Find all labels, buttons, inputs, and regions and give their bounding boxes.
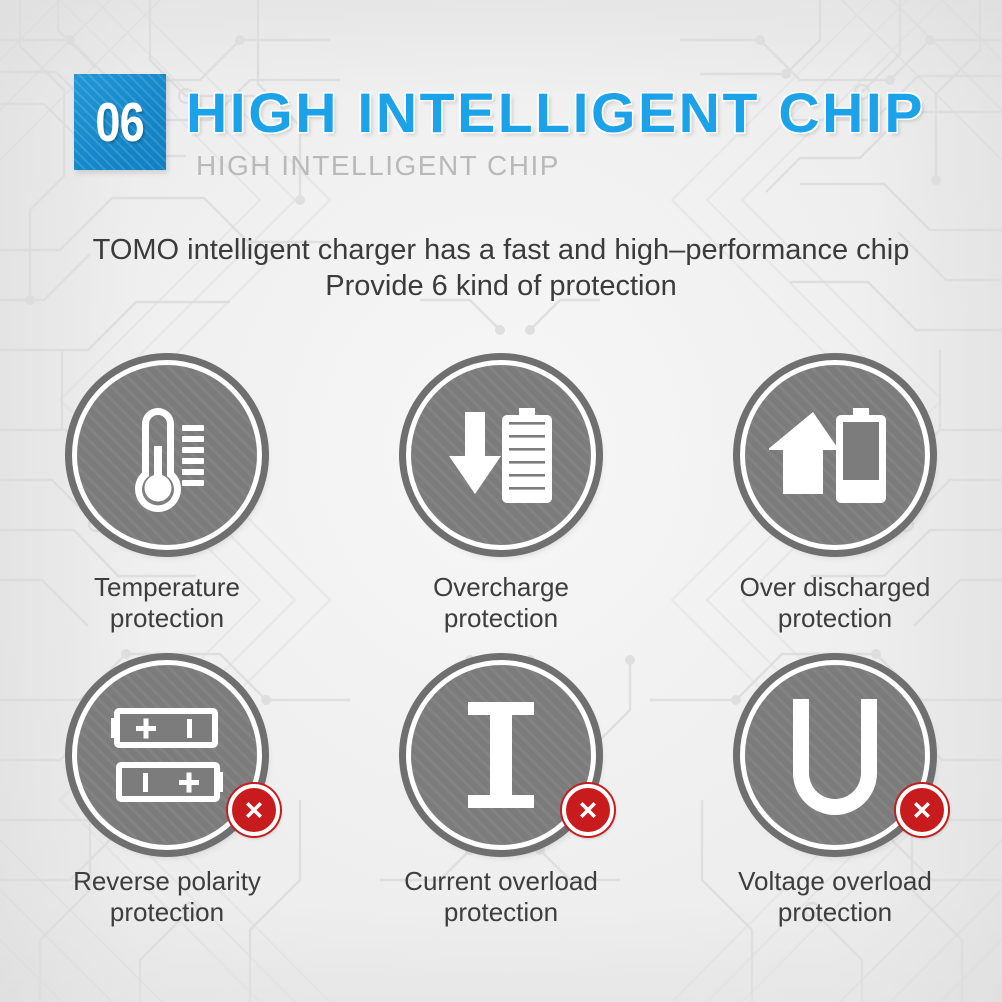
feature-item-voltage-overload: Voltage overload protection	[668, 660, 1002, 960]
feature-caption: Overcharge protection	[433, 572, 569, 634]
section-number-text: 06	[96, 90, 145, 154]
section-header: 06 HIGH INTELLIGENT CHIP HIGH INTELLIGEN…	[74, 74, 954, 186]
battery-up-arrow-icon	[740, 360, 930, 550]
description-block: TOMO intelligent charger has a fast and …	[0, 232, 1002, 304]
description-line-1: TOMO intelligent charger has a fast and …	[0, 232, 1002, 268]
feature-caption: Voltage overload protection	[738, 866, 932, 928]
feature-item-over-discharged: Over discharged protection	[668, 360, 1002, 660]
feature-icon-wrap	[406, 360, 596, 550]
feature-icon-wrap	[740, 360, 930, 550]
feature-caption: Current overload protection	[404, 866, 598, 928]
error-badge-icon	[896, 784, 948, 836]
feature-icon-wrap	[406, 660, 596, 850]
product-feature-page: 06 HIGH INTELLIGENT CHIP HIGH INTELLIGEN…	[0, 0, 1002, 1002]
error-badge-icon	[562, 784, 614, 836]
page-title: HIGH INTELLIGENT CHIP	[186, 80, 925, 145]
error-badge-icon	[228, 784, 280, 836]
feature-item-temperature: Temperature protection	[0, 360, 334, 660]
feature-caption: Temperature protection	[94, 572, 240, 634]
page-subtitle: HIGH INTELLIGENT CHIP	[196, 150, 560, 182]
battery-down-arrow-icon	[406, 360, 596, 550]
description-line-2: Provide 6 kind of protection	[0, 268, 1002, 304]
thermometer-icon	[72, 360, 262, 550]
feature-icon-wrap	[72, 660, 262, 850]
feature-caption: Reverse polarity protection	[73, 866, 261, 928]
feature-item-reverse-polarity: Reverse polarity protection	[0, 660, 334, 960]
feature-caption: Over discharged protection	[740, 572, 931, 634]
feature-item-overcharge: Overcharge protection	[334, 360, 668, 660]
feature-item-current-overload: Current overload protection	[334, 660, 668, 960]
protection-feature-grid: Temperature protection	[0, 360, 1002, 960]
feature-icon-wrap	[740, 660, 930, 850]
section-number-badge: 06	[74, 74, 166, 170]
feature-icon-wrap	[72, 360, 262, 550]
